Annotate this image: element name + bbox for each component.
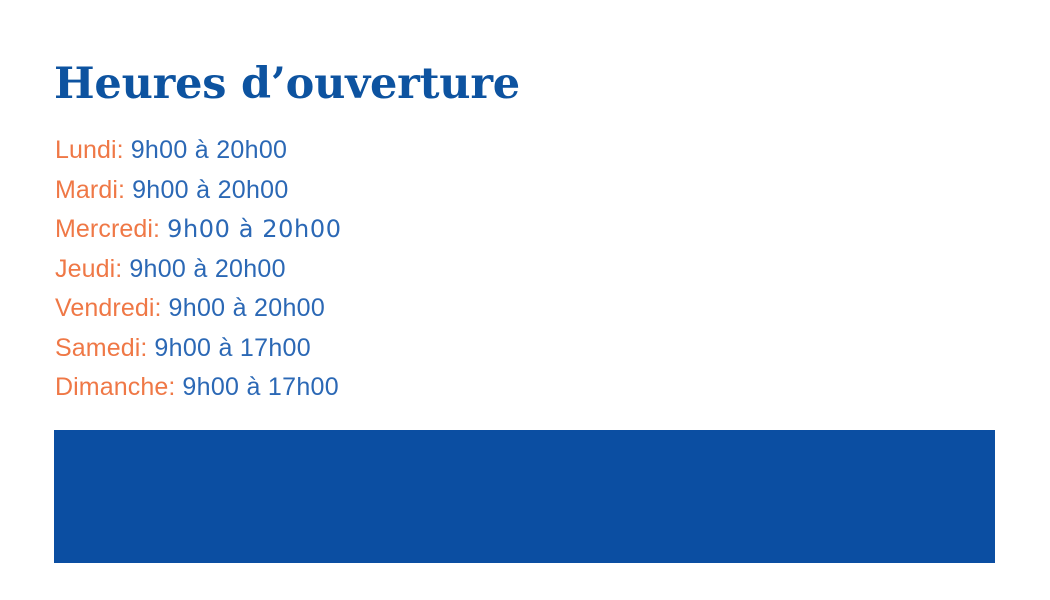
footer-banner-bar bbox=[54, 430, 995, 563]
opening-hours-list: Lundi:9h00 à 20h00 Mardi:9h00 à 20h00 Me… bbox=[55, 131, 755, 408]
hours-row-lundi: Lundi:9h00 à 20h00 bbox=[55, 131, 755, 171]
slide-canvas: Heures d’ouverture Lundi:9h00 à 20h00 Ma… bbox=[0, 0, 1050, 600]
day-label-samedi: Samedi: bbox=[55, 334, 147, 362]
time-value-lundi: 9h00 à 20h00 bbox=[131, 136, 288, 164]
hours-row-mercredi: Mercredi:9h00 à 20h00 bbox=[55, 210, 755, 250]
hours-row-jeudi: Jeudi:9h00 à 20h00 bbox=[55, 250, 755, 290]
hours-row-vendredi: Vendredi:9h00 à 20h00 bbox=[55, 289, 755, 329]
time-value-samedi: 9h00 à 17h00 bbox=[154, 334, 311, 362]
time-value-vendredi: 9h00 à 20h00 bbox=[169, 294, 326, 322]
day-label-mercredi: Mercredi: bbox=[55, 215, 160, 243]
day-label-jeudi: Jeudi: bbox=[55, 255, 122, 283]
time-value-dimanche: 9h00 à 17h00 bbox=[182, 373, 339, 401]
hours-row-mardi: Mardi:9h00 à 20h00 bbox=[55, 171, 755, 211]
time-value-jeudi: 9h00 à 20h00 bbox=[129, 255, 286, 283]
hours-row-dimanche: Dimanche:9h00 à 17h00 bbox=[55, 368, 755, 408]
day-label-mardi: Mardi: bbox=[55, 176, 125, 204]
time-value-mercredi: 9h00 à 20h00 bbox=[167, 215, 341, 243]
time-value-mardi: 9h00 à 20h00 bbox=[132, 176, 289, 204]
hours-row-samedi: Samedi:9h00 à 17h00 bbox=[55, 329, 755, 369]
day-label-lundi: Lundi: bbox=[55, 136, 124, 164]
page-title: Heures d’ouverture bbox=[54, 62, 520, 107]
day-label-dimanche: Dimanche: bbox=[55, 373, 175, 401]
day-label-vendredi: Vendredi: bbox=[55, 294, 162, 322]
